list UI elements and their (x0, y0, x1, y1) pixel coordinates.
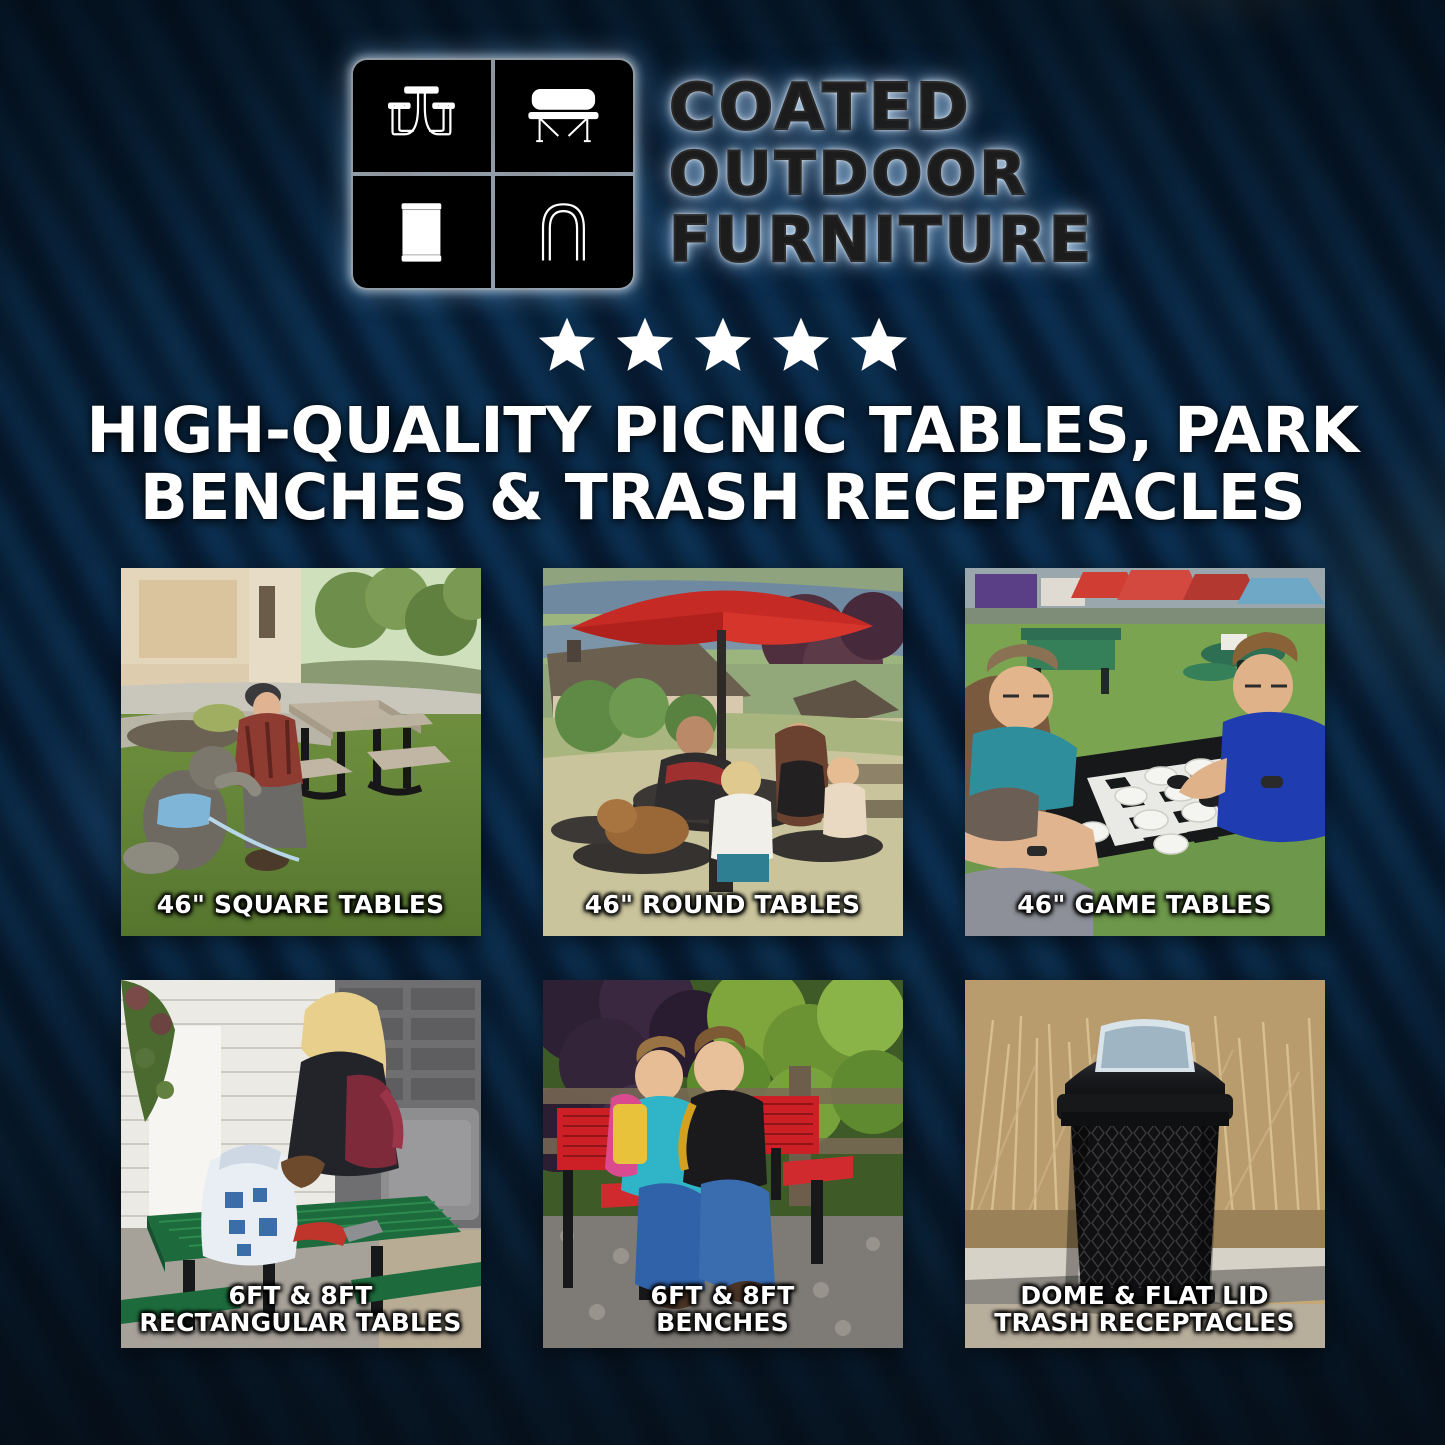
picnic-table-front-icon (353, 60, 491, 172)
promo-banner: COATED OUTDOOR FURNITURE HIGH-QUALITY PI… (0, 0, 1445, 1445)
caption-line-2: RECTANGULAR TABLES (129, 1309, 473, 1336)
product-card-rectangular-tables[interactable]: 6FT & 8FT RECTANGULAR TABLES (121, 980, 481, 1348)
page-title: HIGH-QUALITY PICNIC TABLES, PARK BENCHES… (0, 398, 1445, 532)
headline-line-1: HIGH-QUALITY PICNIC TABLES, PARK (86, 394, 1358, 467)
logo-wordmark: COATED OUTDOOR FURNITURE (669, 76, 1094, 272)
logo-icon-grid (351, 58, 635, 290)
caption-line-1: 46" GAME TABLES (1017, 890, 1272, 919)
caption-line-1: 6FT & 8FT (228, 1281, 372, 1310)
picnic-table-side-icon (495, 60, 633, 172)
caption-line-1: 46" SQUARE TABLES (157, 890, 445, 919)
star-rating (0, 314, 1445, 376)
star-icon (769, 314, 833, 376)
star-icon (847, 314, 911, 376)
trash-receptacle-icon (353, 176, 491, 288)
logo-word-furniture: FURNITURE (669, 208, 1094, 272)
round-tables-photo (543, 568, 903, 936)
product-caption: 46" GAME TABLES (965, 891, 1325, 918)
product-grid: 46" SQUARE TABLES (123, 568, 1323, 1348)
product-card-benches[interactable]: 6FT & 8FT BENCHES (543, 980, 903, 1348)
product-caption: 46" SQUARE TABLES (121, 891, 481, 918)
product-card-round-tables[interactable]: 46" ROUND TABLES (543, 568, 903, 936)
caption-line-2: BENCHES (551, 1309, 895, 1336)
product-card-trash-receptacles[interactable]: DOME & FLAT LID TRASH RECEPTACLES (965, 980, 1325, 1348)
product-caption: 46" ROUND TABLES (543, 891, 903, 918)
game-tables-photo (965, 568, 1325, 936)
product-caption: 6FT & 8FT RECTANGULAR TABLES (121, 1282, 481, 1336)
caption-line-2: TRASH RECEPTACLES (973, 1309, 1317, 1336)
brand-logo[interactable]: COATED OUTDOOR FURNITURE (0, 0, 1445, 290)
arch-bike-rack-icon (495, 176, 633, 288)
headline-line-2: BENCHES & TRASH RECEPTACLES (60, 465, 1385, 532)
product-caption: DOME & FLAT LID TRASH RECEPTACLES (965, 1282, 1325, 1336)
product-card-square-tables[interactable]: 46" SQUARE TABLES (121, 568, 481, 936)
star-icon (691, 314, 755, 376)
logo-word-outdoor: OUTDOOR (669, 144, 1094, 206)
square-tables-photo (121, 568, 481, 936)
caption-line-1: 46" ROUND TABLES (585, 890, 860, 919)
logo-word-coated: COATED (669, 76, 1094, 142)
caption-line-1: DOME & FLAT LID (1020, 1281, 1268, 1310)
caption-line-1: 6FT & 8FT (650, 1281, 794, 1310)
product-card-game-tables[interactable]: 46" GAME TABLES (965, 568, 1325, 936)
product-caption: 6FT & 8FT BENCHES (543, 1282, 903, 1336)
star-icon (535, 314, 599, 376)
star-icon (613, 314, 677, 376)
